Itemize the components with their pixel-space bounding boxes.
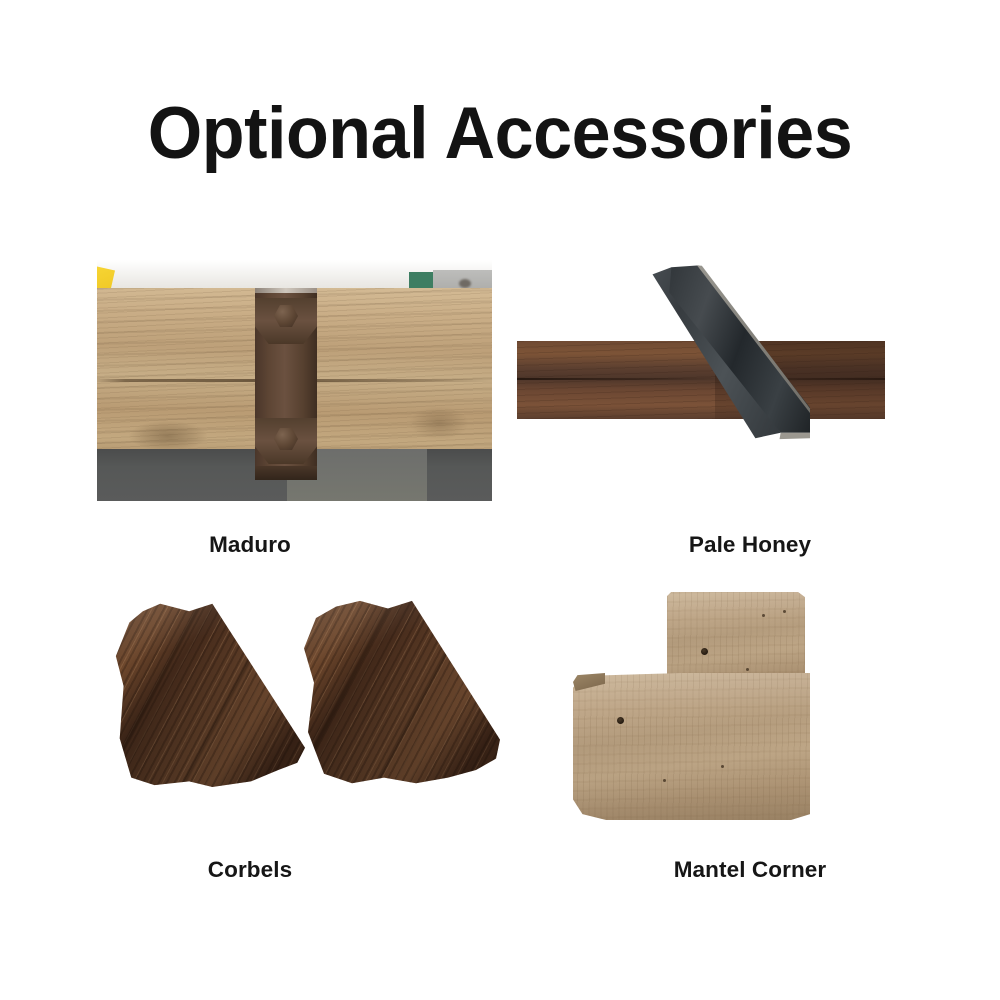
product-label-mantel-corner: Mantel Corner — [500, 857, 1000, 883]
steel-angle-bracket — [600, 260, 810, 440]
product-image-pale-honey[interactable] — [500, 250, 1000, 510]
product-label-pale-honey: Pale Honey — [500, 532, 1000, 558]
gray-dot-shape — [459, 279, 471, 288]
wood-speck — [762, 614, 765, 617]
corbel-right-shading — [300, 599, 500, 789]
nail-hole-lower — [617, 717, 624, 724]
metal-strap-tail — [255, 466, 317, 480]
wood-knot — [129, 421, 207, 451]
product-label-corbels: Corbels — [0, 857, 500, 883]
product-label-maduro: Maduro — [0, 532, 500, 558]
nail-hole-upper — [701, 648, 708, 655]
product-card-mantel-corner[interactable]: Mantel Corner — [500, 575, 1000, 895]
corbel-right — [300, 599, 500, 789]
wood-speck — [746, 668, 749, 671]
product-card-pale-honey[interactable]: Pale Honey — [500, 250, 1000, 570]
wood-speck — [663, 779, 666, 782]
product-image-maduro[interactable] — [97, 260, 492, 501]
wood-knot-secondary — [409, 406, 469, 440]
product-image-corbels[interactable] — [0, 575, 500, 840]
product-card-maduro[interactable]: Maduro — [0, 250, 500, 570]
wood-speck — [783, 610, 786, 613]
page-title: Optional Accessories — [20, 97, 980, 170]
corbel-left — [112, 600, 305, 787]
wood-speck — [721, 765, 724, 768]
mantel-lower-block — [573, 673, 810, 820]
corbel-left-shading — [112, 600, 305, 787]
metal-strap-highlight — [255, 288, 317, 293]
mantel-lower-shading — [573, 673, 810, 820]
product-image-mantel-corner[interactable] — [500, 575, 1000, 840]
product-card-corbels[interactable]: Corbels — [0, 575, 500, 895]
